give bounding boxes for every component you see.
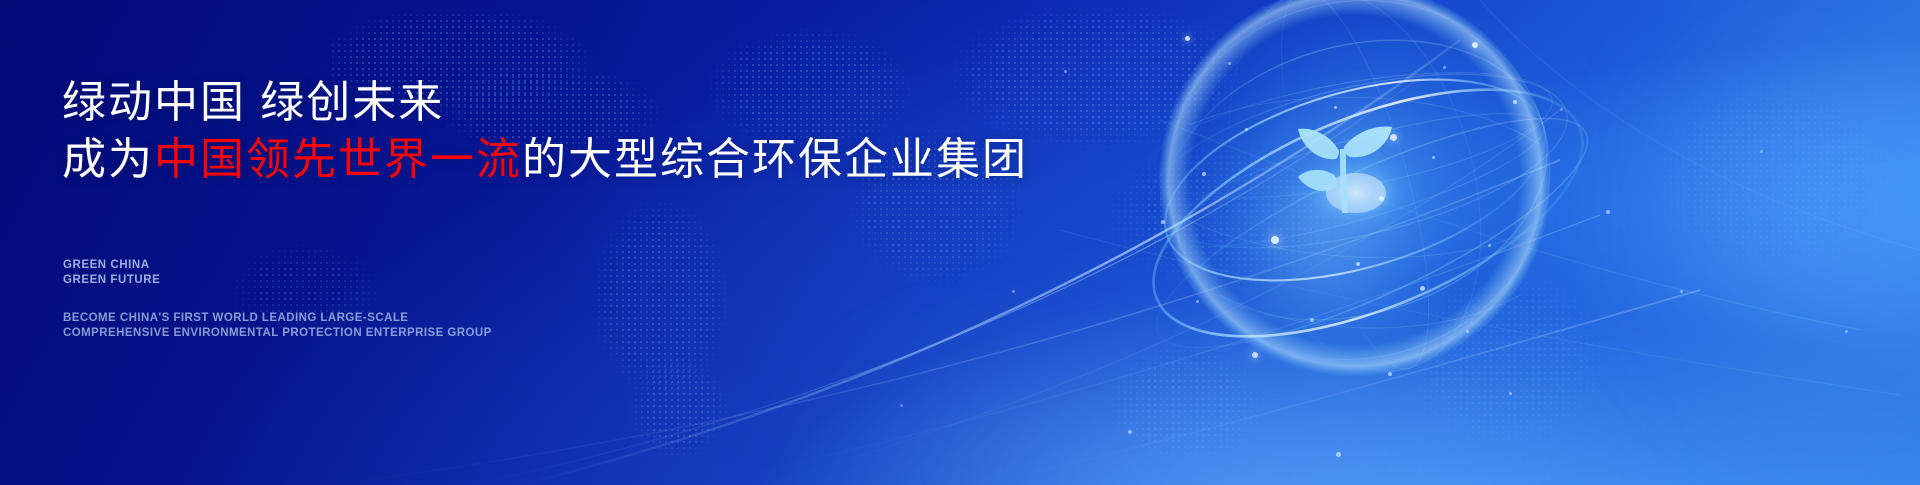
dotted-world-map: [0, 0, 1920, 485]
orbit-ring-icon: [1120, 0, 1590, 405]
tagline-line-1: BECOME CHINA'S FIRST WORLD LEADING LARGE…: [63, 311, 492, 326]
eyebrow-line-2: GREEN FUTURE: [63, 273, 160, 288]
globe-sphere-icon: [1120, 0, 1590, 435]
tagline-line-2: COMPREHENSIVE ENVIRONMENTAL PROTECTION E…: [63, 326, 492, 341]
eyebrow-line-1: GREEN CHINA: [63, 258, 160, 273]
headline-line-1: 绿动中国 绿创未来: [62, 74, 1028, 131]
sprout-leaf-icon: [1288, 113, 1396, 217]
headline-highlight: 中国领先世界一流: [154, 135, 522, 184]
headline-block: 绿动中国 绿创未来 成为中国领先世界一流的大型综合环保企业集团: [62, 74, 1028, 188]
english-tagline: BECOME CHINA'S FIRST WORLD LEADING LARGE…: [63, 311, 492, 340]
edge-glow: [1640, 0, 1920, 485]
headline-line-2: 成为中国领先世界一流的大型综合环保企业集团: [62, 131, 1028, 188]
lower-glow: [760, 300, 1660, 485]
english-eyebrow: GREEN CHINA GREEN FUTURE: [63, 258, 160, 287]
headline-prefix: 成为: [62, 135, 154, 184]
headline-suffix: 的大型综合环保企业集团: [522, 135, 1028, 184]
light-streak-icon: [0, 0, 1920, 485]
particle-field: [0, 0, 1920, 485]
hero-banner: 绿动中国 绿创未来 成为中国领先世界一流的大型综合环保企业集团 GREEN CH…: [0, 0, 1920, 485]
core-glow: [1175, 120, 1475, 350]
